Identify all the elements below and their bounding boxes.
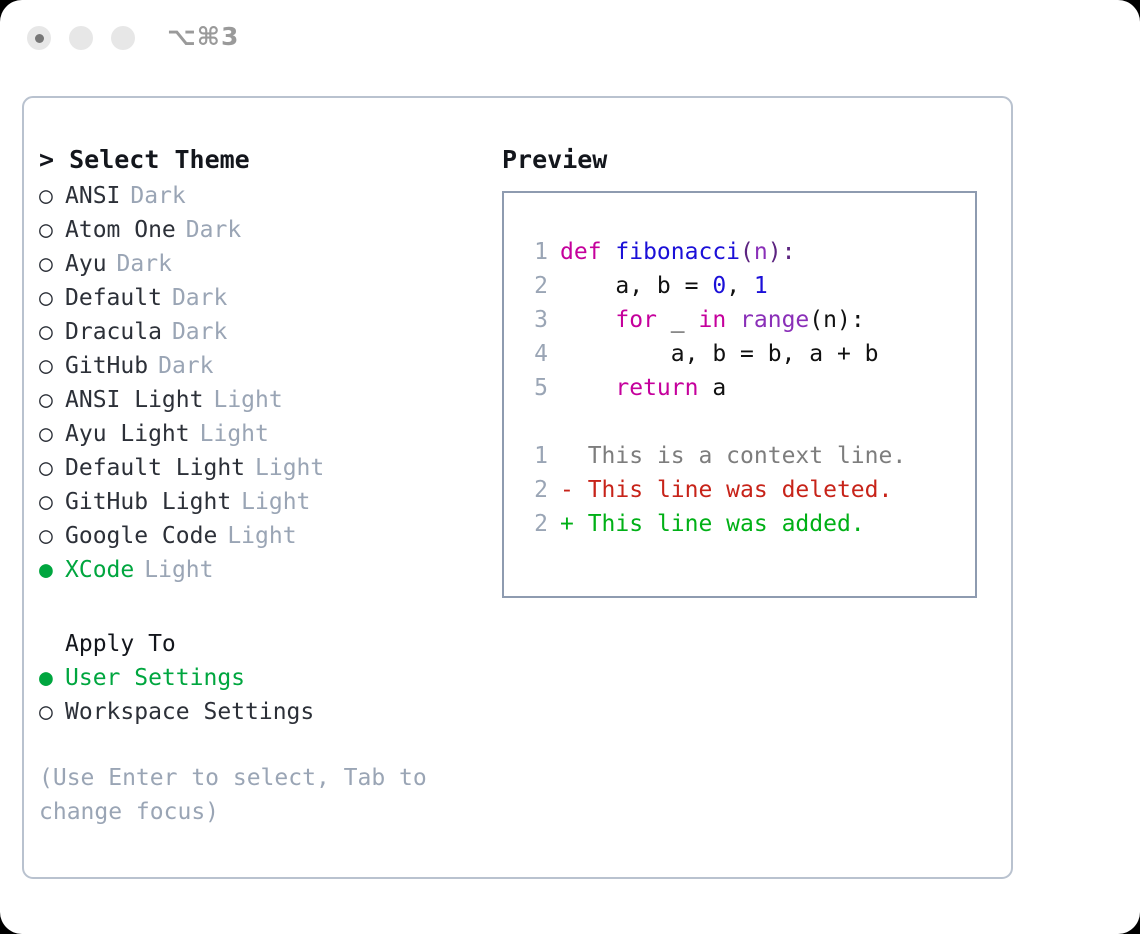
preview-box: 1def fibonacci(n):2 a, b = 0, 13 for _ i…	[502, 191, 977, 598]
code-line-content: for _ in range(n):	[560, 303, 865, 337]
apply-to-heading: ○ Apply To	[39, 627, 479, 661]
theme-list-item[interactable]: ○Ayu LightLight	[39, 417, 479, 451]
theme-variant-badge: Light	[200, 417, 269, 451]
theme-name: Default Light	[65, 451, 245, 485]
theme-name: XCode	[65, 553, 134, 587]
code-token	[726, 307, 740, 333]
theme-variant-badge: Light	[144, 553, 213, 587]
code-token: a, b = b, a + b	[560, 341, 879, 367]
code-token: return	[615, 375, 698, 401]
code-token: a	[698, 375, 726, 401]
radio-unselected-icon[interactable]: ○	[39, 417, 65, 451]
theme-list-item[interactable]: ○DraculaDark	[39, 315, 479, 349]
diff-text: This line was added.	[588, 507, 865, 541]
theme-name: Ayu	[65, 247, 107, 281]
code-token: 0	[712, 273, 726, 299]
code-token	[560, 375, 615, 401]
code-token: 1	[754, 273, 768, 299]
theme-variant-badge: Dark	[130, 179, 185, 213]
select-theme-heading: > Select Theme	[39, 143, 479, 177]
radio-unselected-icon[interactable]: ○	[39, 247, 65, 281]
code-token: (n):	[809, 307, 864, 333]
apply-to-section: ○ Apply To ●User Settings○Workspace Sett…	[39, 627, 479, 729]
theme-list-item[interactable]: ○GitHubDark	[39, 349, 479, 383]
diff-text: This line was deleted.	[588, 473, 893, 507]
code-line-content: a, b = 0, 1	[560, 269, 768, 303]
code-token: ,	[726, 273, 754, 299]
diff-marker: -	[560, 473, 588, 507]
line-number: 2	[522, 473, 548, 507]
code-token: n	[754, 239, 768, 265]
theme-variant-badge: Light	[213, 383, 282, 417]
theme-variant-badge: Dark	[172, 281, 227, 315]
theme-variant-badge: Light	[241, 485, 310, 519]
theme-variant-badge: Light	[227, 519, 296, 553]
theme-list-item[interactable]: ○AyuDark	[39, 247, 479, 281]
diff-line: 1 This is a context line.	[522, 439, 975, 473]
app-window: ⌥⌘3 > Select Theme ○ANSIDark○Atom OneDar…	[0, 0, 1140, 934]
apply-to-option[interactable]: ○Workspace Settings	[39, 695, 479, 729]
apply-to-option-label: User Settings	[65, 661, 245, 695]
code-preview: 1def fibonacci(n):2 a, b = 0, 13 for _ i…	[522, 235, 975, 405]
theme-variant-badge: Dark	[158, 349, 213, 383]
apply-to-option[interactable]: ●User Settings	[39, 661, 479, 695]
preview-column: Preview 1def fibonacci(n):2 a, b = 0, 13…	[502, 143, 992, 598]
code-line: 1def fibonacci(n):	[522, 235, 975, 269]
line-number: 5	[522, 371, 548, 405]
code-token: _	[657, 307, 699, 333]
code-line: 2 a, b = 0, 1	[522, 269, 975, 303]
diff-line: 2+ This line was added.	[522, 507, 975, 541]
theme-list-item[interactable]: ○ANSIDark	[39, 179, 479, 213]
code-token: a, b =	[560, 273, 712, 299]
theme-variant-badge: Dark	[172, 315, 227, 349]
preview-spacer	[522, 405, 975, 439]
window-dot-third-icon[interactable]	[111, 26, 135, 50]
theme-name: Default	[65, 281, 162, 315]
keyboard-hint-text: (Use Enter to select, Tab to change focu…	[39, 761, 459, 829]
apply-to-option-label: Workspace Settings	[65, 695, 314, 729]
theme-variant-badge: Dark	[186, 213, 241, 247]
preview-heading: Preview	[502, 143, 992, 177]
theme-name: Atom One	[65, 213, 176, 247]
theme-name: Ayu Light	[65, 417, 190, 451]
theme-name: ANSI	[65, 179, 120, 213]
code-token: range	[740, 307, 809, 333]
apply-to-heading-label: Apply To	[65, 627, 176, 661]
radio-unselected-icon[interactable]: ○	[39, 281, 65, 315]
window-controls	[27, 26, 135, 50]
theme-list-item[interactable]: ●XCodeLight	[39, 553, 479, 587]
diff-preview: 1 This is a context line.2- This line wa…	[522, 439, 975, 541]
code-token: ):	[768, 239, 796, 265]
code-line-content: def fibonacci(n):	[560, 235, 795, 269]
theme-list-item[interactable]: ○ANSI LightLight	[39, 383, 479, 417]
radio-selected-icon[interactable]: ●	[39, 553, 65, 587]
diff-line: 2- This line was deleted.	[522, 473, 975, 507]
radio-unselected-icon[interactable]: ○	[39, 519, 65, 553]
theme-list-item[interactable]: ○Atom OneDark	[39, 213, 479, 247]
code-line-content: a, b = b, a + b	[560, 337, 879, 371]
radio-unselected-icon[interactable]: ○	[39, 485, 65, 519]
code-token: fibonacci	[615, 239, 740, 265]
theme-name: Google Code	[65, 519, 217, 553]
line-number: 1	[522, 235, 548, 269]
theme-variant-badge: Light	[255, 451, 324, 485]
line-number: 3	[522, 303, 548, 337]
radio-unselected-icon[interactable]: ○	[39, 179, 65, 213]
code-line: 3 for _ in range(n):	[522, 303, 975, 337]
line-number: 2	[522, 269, 548, 303]
theme-name: Dracula	[65, 315, 162, 349]
theme-list-item[interactable]: ○Google CodeLight	[39, 519, 479, 553]
theme-name: ANSI Light	[65, 383, 203, 417]
apply-heading-spacer: ○	[39, 627, 65, 661]
diff-marker	[560, 439, 588, 473]
theme-selector-panel: > Select Theme ○ANSIDark○Atom OneDark○Ay…	[22, 96, 1013, 879]
keyboard-shortcut-label: ⌥⌘3	[167, 22, 239, 51]
theme-name: GitHub Light	[65, 485, 231, 519]
theme-list-item[interactable]: ○DefaultDark	[39, 281, 479, 315]
radio-unselected-icon[interactable]: ○	[39, 451, 65, 485]
line-number: 1	[522, 439, 548, 473]
theme-variant-badge: Dark	[117, 247, 172, 281]
title-bar: ⌥⌘3	[0, 0, 1140, 80]
apply-to-options[interactable]: ●User Settings○Workspace Settings	[39, 661, 479, 729]
theme-name: GitHub	[65, 349, 148, 383]
theme-list[interactable]: ○ANSIDark○Atom OneDark○AyuDark○DefaultDa…	[39, 179, 479, 587]
code-token: def	[560, 239, 615, 265]
line-number: 2	[522, 507, 548, 541]
diff-marker: +	[560, 507, 588, 541]
code-line: 4 a, b = b, a + b	[522, 337, 975, 371]
radio-unselected-icon[interactable]: ○	[39, 349, 65, 383]
window-dot-active-icon[interactable]	[27, 26, 51, 50]
radio-unselected-icon[interactable]: ○	[39, 383, 65, 417]
radio-unselected-icon[interactable]: ○	[39, 315, 65, 349]
code-token: in	[698, 307, 726, 333]
code-token: (	[740, 239, 754, 265]
window-dot-second-icon[interactable]	[69, 26, 93, 50]
theme-list-column: > Select Theme ○ANSIDark○Atom OneDark○Ay…	[39, 143, 479, 829]
radio-unselected-icon[interactable]: ○	[39, 695, 65, 729]
diff-text: This is a context line.	[588, 439, 907, 473]
code-line: 5 return a	[522, 371, 975, 405]
theme-list-item[interactable]: ○GitHub LightLight	[39, 485, 479, 519]
radio-unselected-icon[interactable]: ○	[39, 213, 65, 247]
theme-list-item[interactable]: ○Default LightLight	[39, 451, 479, 485]
line-number: 4	[522, 337, 548, 371]
radio-selected-icon[interactable]: ●	[39, 661, 65, 695]
code-token: for	[615, 307, 657, 333]
code-line-content: return a	[560, 371, 726, 405]
code-token	[560, 307, 615, 333]
